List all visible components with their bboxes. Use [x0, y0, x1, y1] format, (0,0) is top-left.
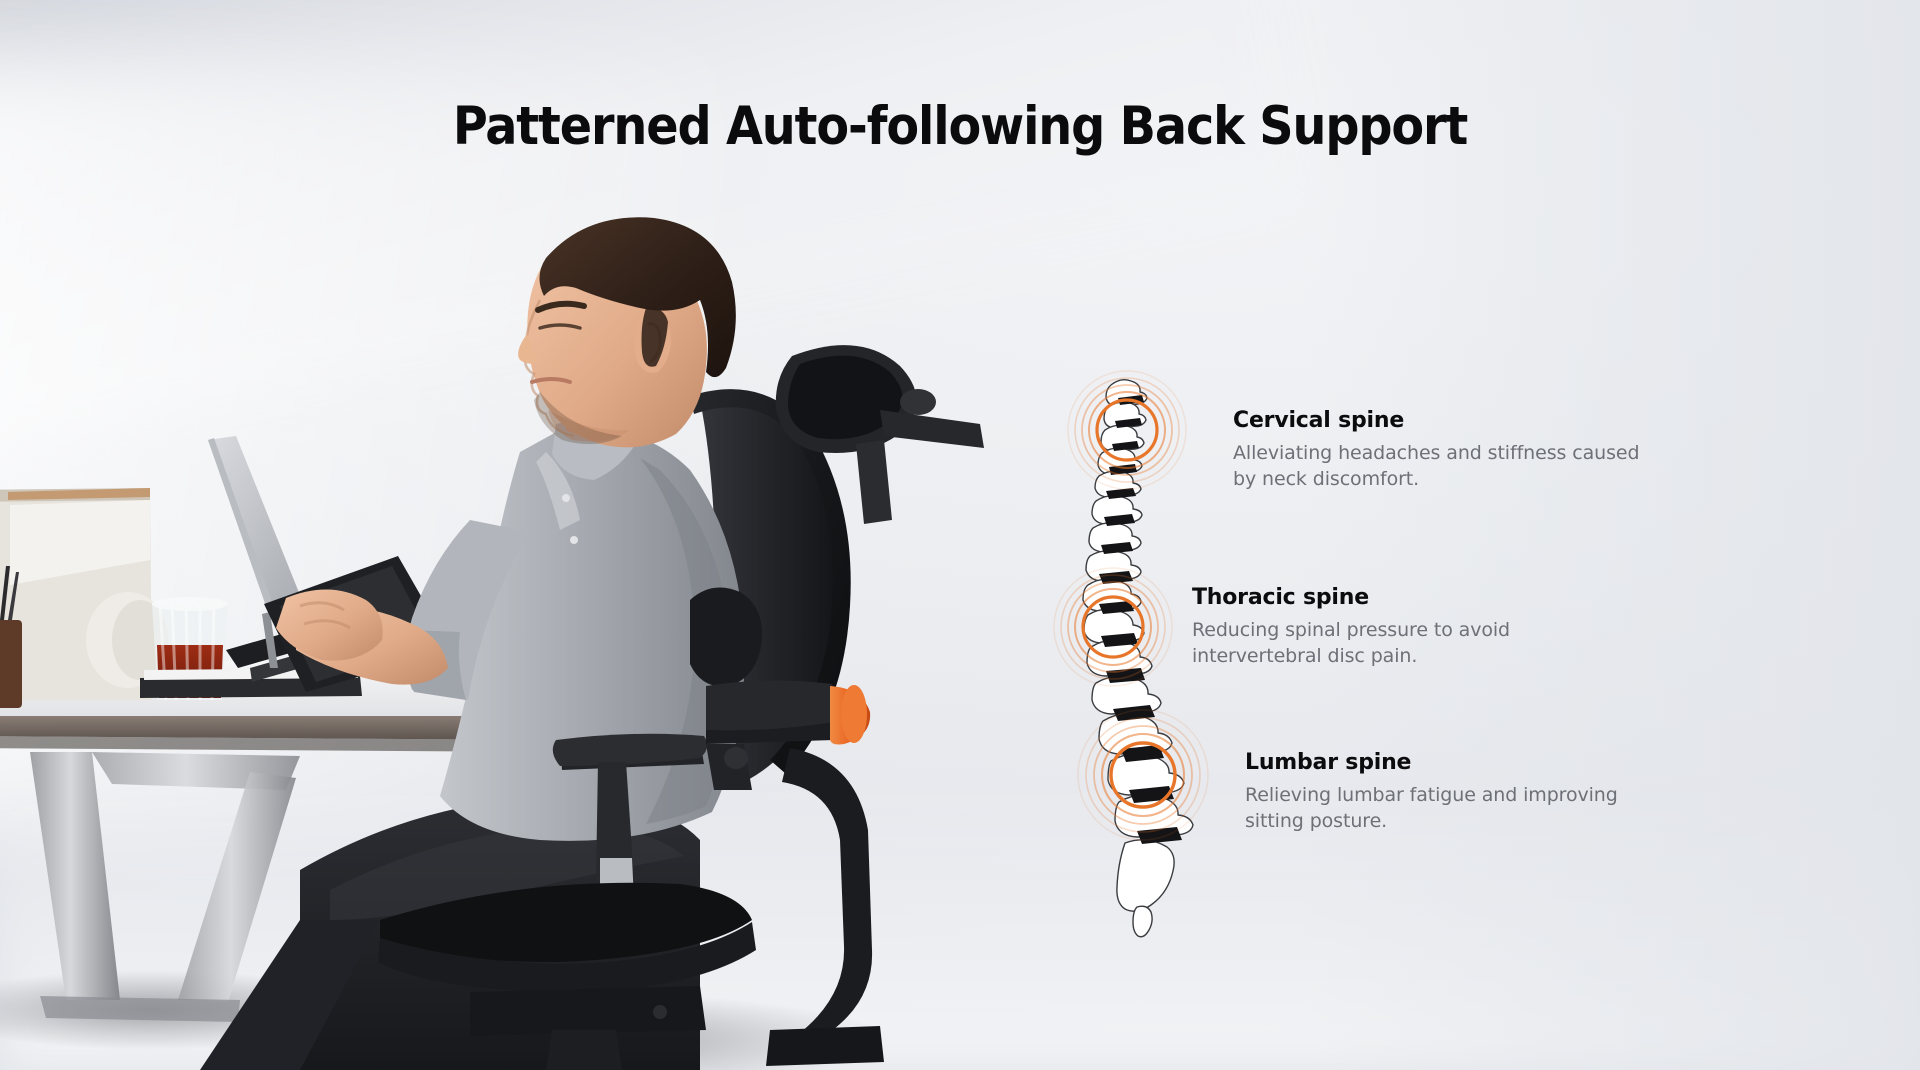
chair-rear-foot [766, 1026, 884, 1066]
desk-foot [40, 996, 240, 1022]
desk-leg-left [30, 752, 120, 1000]
back-support-arm-top [706, 680, 839, 730]
feature-thoracic: Thoracic spine Reducing spinal pressure … [1192, 585, 1592, 669]
headrest-knob [900, 389, 936, 415]
feature-description-lumbar: Relieving lumbar fatigue and improving s… [1245, 782, 1665, 834]
page-title: Patterned Auto-following Back Support [0, 96, 1920, 157]
scene-stage: Patterned Auto-following Back Support [0, 0, 1920, 1070]
chair-headrest-arm [880, 410, 984, 448]
mechanism-bolt [653, 1005, 667, 1019]
bracket-knob [724, 747, 748, 769]
feature-title-cervical: Cervical spine [1233, 408, 1663, 433]
orange-knob-cap [841, 685, 867, 743]
feature-description-cervical: Alleviating headaches and stiffness caus… [1233, 440, 1663, 492]
chair-mechanism [470, 986, 706, 1036]
feature-title-thoracic: Thoracic spine [1192, 585, 1592, 610]
feature-title-lumbar: Lumbar spine [1245, 750, 1665, 775]
right-vignette [1300, 0, 1920, 1070]
chair-rear-leg [782, 748, 872, 1036]
chair-column [546, 1030, 622, 1070]
feature-cervical: Cervical spine Alleviating headaches and… [1233, 408, 1663, 492]
chair-headrest-stem [856, 440, 892, 524]
product-photo [0, 0, 1060, 1070]
feature-description-thoracic: Reducing spinal pressure to avoid interv… [1192, 617, 1592, 669]
feature-lumbar: Lumbar spine Relieving lumbar fatigue an… [1245, 750, 1665, 834]
